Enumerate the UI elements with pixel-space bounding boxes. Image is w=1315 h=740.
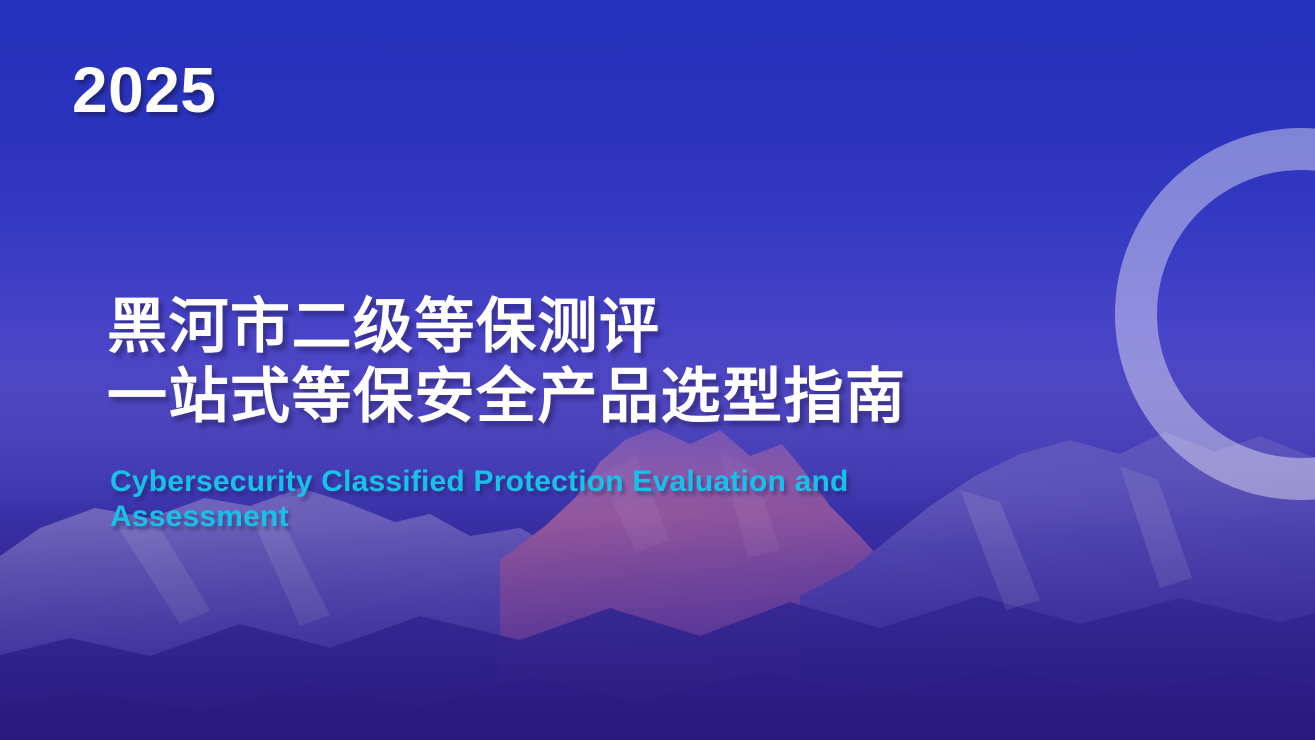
mountain-background-image <box>0 410 1315 740</box>
page-title: 黑河市二级等保测评 一站式等保安全产品选型指南 <box>107 292 1107 431</box>
title-line-2: 一站式等保安全产品选型指南 <box>107 362 1107 432</box>
year-label: 2025 <box>72 58 216 122</box>
cover-slide: 2025 黑河市二级等保测评 一站式等保安全产品选型指南 Cybersecuri… <box>0 0 1315 740</box>
subtitle-english: Cybersecurity Classified Protection Eval… <box>110 465 990 535</box>
title-line-1: 黑河市二级等保测评 <box>107 292 1107 362</box>
